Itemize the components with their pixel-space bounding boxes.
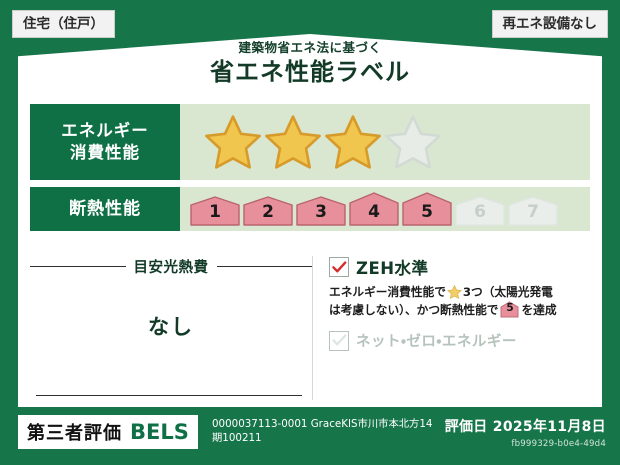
grade-value: 6	[455, 202, 505, 222]
utility-cost-value: なし	[30, 311, 312, 341]
energy-label-line2: 消費性能	[70, 142, 140, 164]
insulation-grade-scale: 1234567	[190, 192, 558, 226]
performance-rows: エネルギー 消費性能 断熱性能 1234567	[30, 104, 590, 238]
grade-value: 1	[190, 202, 240, 222]
bottom-panels: 目安光熱費 なし ZEH水準 エネルギー消費性能で3つ（太陽光発電 は考慮しない…	[30, 252, 590, 404]
star-rating	[204, 114, 442, 170]
zeh-panel: ZEH水準 エネルギー消費性能で3つ（太陽光発電 は考慮しない）、かつ断熱性能で…	[321, 252, 590, 404]
zeh-desc-part3: は考慮しない）、かつ断熱性能で	[329, 303, 498, 317]
label-footer: 第三者評価 BELS 0000037113-0001 GraceKIS市川市本北…	[0, 407, 620, 465]
nze-checkbox-unchecked	[329, 331, 349, 351]
heading-rule-right	[217, 266, 313, 267]
star-filled-icon	[264, 114, 322, 170]
utility-cost-bottom-rule	[36, 395, 302, 396]
row-insulation-performance: 断熱性能 1234567	[30, 187, 590, 231]
evaluation-date-label: 評価日	[445, 419, 488, 435]
zeh-checkbox-checked	[329, 257, 349, 277]
net-zero-energy-row: ネット・ゼロ・エネルギー	[329, 330, 590, 351]
star-filled-icon	[324, 114, 382, 170]
label-header-banner: 建築物省エネ法に基づく 省エネ性能ラベル 住宅（住戸） 再エネ設備なし	[0, 0, 620, 108]
certificate-id: 0000037113-0001 GraceKIS市川市本北方14期100211	[212, 417, 437, 445]
zeh-description: エネルギー消費性能で3つ（太陽光発電 は考慮しない）、かつ断熱性能で5を達成	[329, 284, 590, 319]
insulation-grade-5: 5	[402, 192, 452, 226]
energy-label-line1: エネルギー	[61, 120, 149, 142]
net-zero-energy-label: ネット・ゼロ・エネルギー	[356, 330, 517, 351]
insulation-grade-7: 7	[508, 196, 558, 226]
check-icon	[332, 261, 347, 274]
insulation-grade-6: 6	[455, 196, 505, 226]
inline-grade-badge: 5	[500, 301, 519, 318]
evaluation-date-block: 評価日 2025年11月8日 fb999329-b0e4-49d4	[445, 416, 606, 449]
grade-value: 5	[402, 202, 452, 222]
energy-performance-label: エネルギー 消費性能	[30, 104, 180, 180]
zeh-desc-part2: 3つ（太陽光発電	[463, 285, 553, 299]
grade-value: 4	[349, 202, 399, 222]
inline-star-icon	[447, 285, 462, 299]
grade-value: 3	[296, 202, 346, 222]
star-filled-icon	[204, 114, 262, 170]
zeh-standard-label: ZEH水準	[356, 255, 429, 279]
star-empty-icon	[384, 114, 442, 170]
insulation-performance-value: 1234567	[180, 187, 590, 231]
insulation-grade-4: 4	[349, 192, 399, 226]
badge-renewable-equipment: 再エネ設備なし	[492, 10, 609, 38]
utility-cost-heading-row: 目安光熱費	[30, 256, 312, 277]
zeh-standard-row: ZEH水準	[329, 255, 590, 279]
grade-value: 2	[243, 202, 293, 222]
insulation-performance-label: 断熱性能	[30, 187, 180, 231]
grade-value: 7	[508, 202, 558, 222]
badge-building-type: 住宅（住戸）	[12, 10, 115, 38]
check-icon-disabled	[332, 334, 347, 347]
evaluation-date: 評価日 2025年11月8日	[445, 416, 606, 436]
roof-shape	[18, 34, 602, 108]
row-energy-consumption: エネルギー 消費性能	[30, 104, 590, 180]
evaluation-date-value: 2025年11月8日	[493, 419, 606, 435]
zeh-desc-part4: を達成	[521, 303, 556, 317]
bels-japanese-label: 第三者評価	[27, 419, 122, 445]
bels-logo-text: BELS	[130, 420, 189, 444]
insulation-grade-2: 2	[243, 196, 293, 226]
insulation-grade-3: 3	[296, 196, 346, 226]
bels-certification-mark: 第三者評価 BELS	[18, 415, 198, 449]
bels-energy-label: 建築物省エネ法に基づく 省エネ性能ラベル 住宅（住戸） 再エネ設備なし エネルギ…	[0, 0, 620, 465]
heading-rule-left	[30, 266, 126, 267]
utility-cost-panel: 目安光熱費 なし	[30, 252, 312, 404]
inline-grade-value: 5	[500, 300, 519, 317]
insulation-grade-1: 1	[190, 196, 240, 226]
utility-cost-heading: 目安光熱費	[134, 256, 209, 277]
zeh-desc-part1: エネルギー消費性能で	[329, 285, 446, 299]
energy-performance-value	[180, 104, 590, 180]
panel-divider	[312, 256, 313, 400]
document-hash: fb999329-b0e4-49d4	[445, 439, 606, 449]
